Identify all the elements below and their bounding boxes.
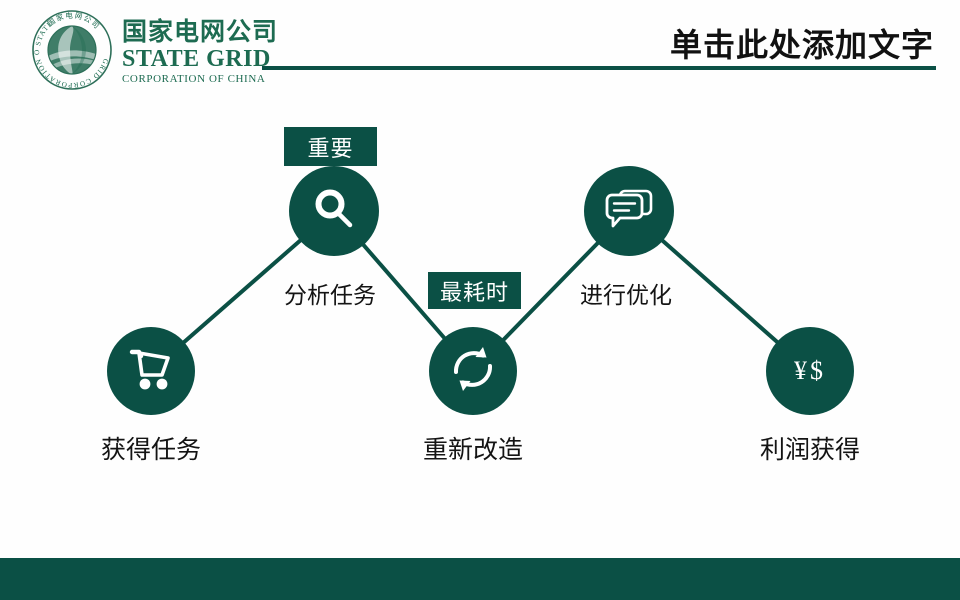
label-text-analyze-task: 分析任务 <box>284 276 376 310</box>
flow-connectors <box>0 100 960 540</box>
node-get-task[interactable] <box>107 327 195 415</box>
slide-header: GRID CORPORATION OF CHINA STATE 国家电网公司 国… <box>0 0 960 100</box>
node-analyze-task[interactable] <box>289 166 379 256</box>
shopping-cart-icon <box>126 346 176 397</box>
node-optimize[interactable] <box>584 166 674 256</box>
recycle-arrows-icon <box>445 341 501 402</box>
process-flow-diagram: 重要 分析任务 进行优化 <box>0 100 960 540</box>
state-grid-logo: GRID CORPORATION OF CHINA STATE 国家电网公司 国… <box>30 8 278 92</box>
state-grid-globe-icon: GRID CORPORATION OF CHINA STATE 国家电网公司 <box>30 8 114 92</box>
currency-icon: ¥$ <box>794 356 826 386</box>
label-text-get-task: 获得任务 <box>101 435 201 464</box>
logo-subtitle-en: CORPORATION OF CHINA <box>122 74 278 85</box>
slide-canvas: GRID CORPORATION OF CHINA STATE 国家电网公司 国… <box>0 0 960 600</box>
node-label-rebuild: 重新改造 <box>373 430 573 466</box>
node-label-get-task: 获得任务 <box>51 430 251 466</box>
node-label-profit: 利润获得 <box>710 430 910 466</box>
node-profit[interactable]: ¥$ <box>766 327 854 415</box>
badge-important: 重要 <box>284 127 377 166</box>
speech-bubbles-icon <box>603 186 655 237</box>
label-text-profit: 利润获得 <box>760 435 860 464</box>
node-rebuild[interactable] <box>429 327 517 415</box>
page-title: 单击此处添加文字 <box>670 20 934 66</box>
footer-bar <box>0 558 960 600</box>
logo-name-cn: 国家电网公司 <box>122 19 278 44</box>
label-text-rebuild: 重新改造 <box>423 435 523 464</box>
badge-most-time-consuming: 最耗时 <box>428 272 521 309</box>
magnifier-icon <box>311 186 357 237</box>
state-grid-logo-text: 国家电网公司 STATE GRID CORPORATION OF CHINA <box>122 15 278 85</box>
label-text-optimize: 进行优化 <box>580 276 672 310</box>
title-underline-rule <box>262 66 936 70</box>
logo-name-en: STATE GRID <box>122 47 278 71</box>
